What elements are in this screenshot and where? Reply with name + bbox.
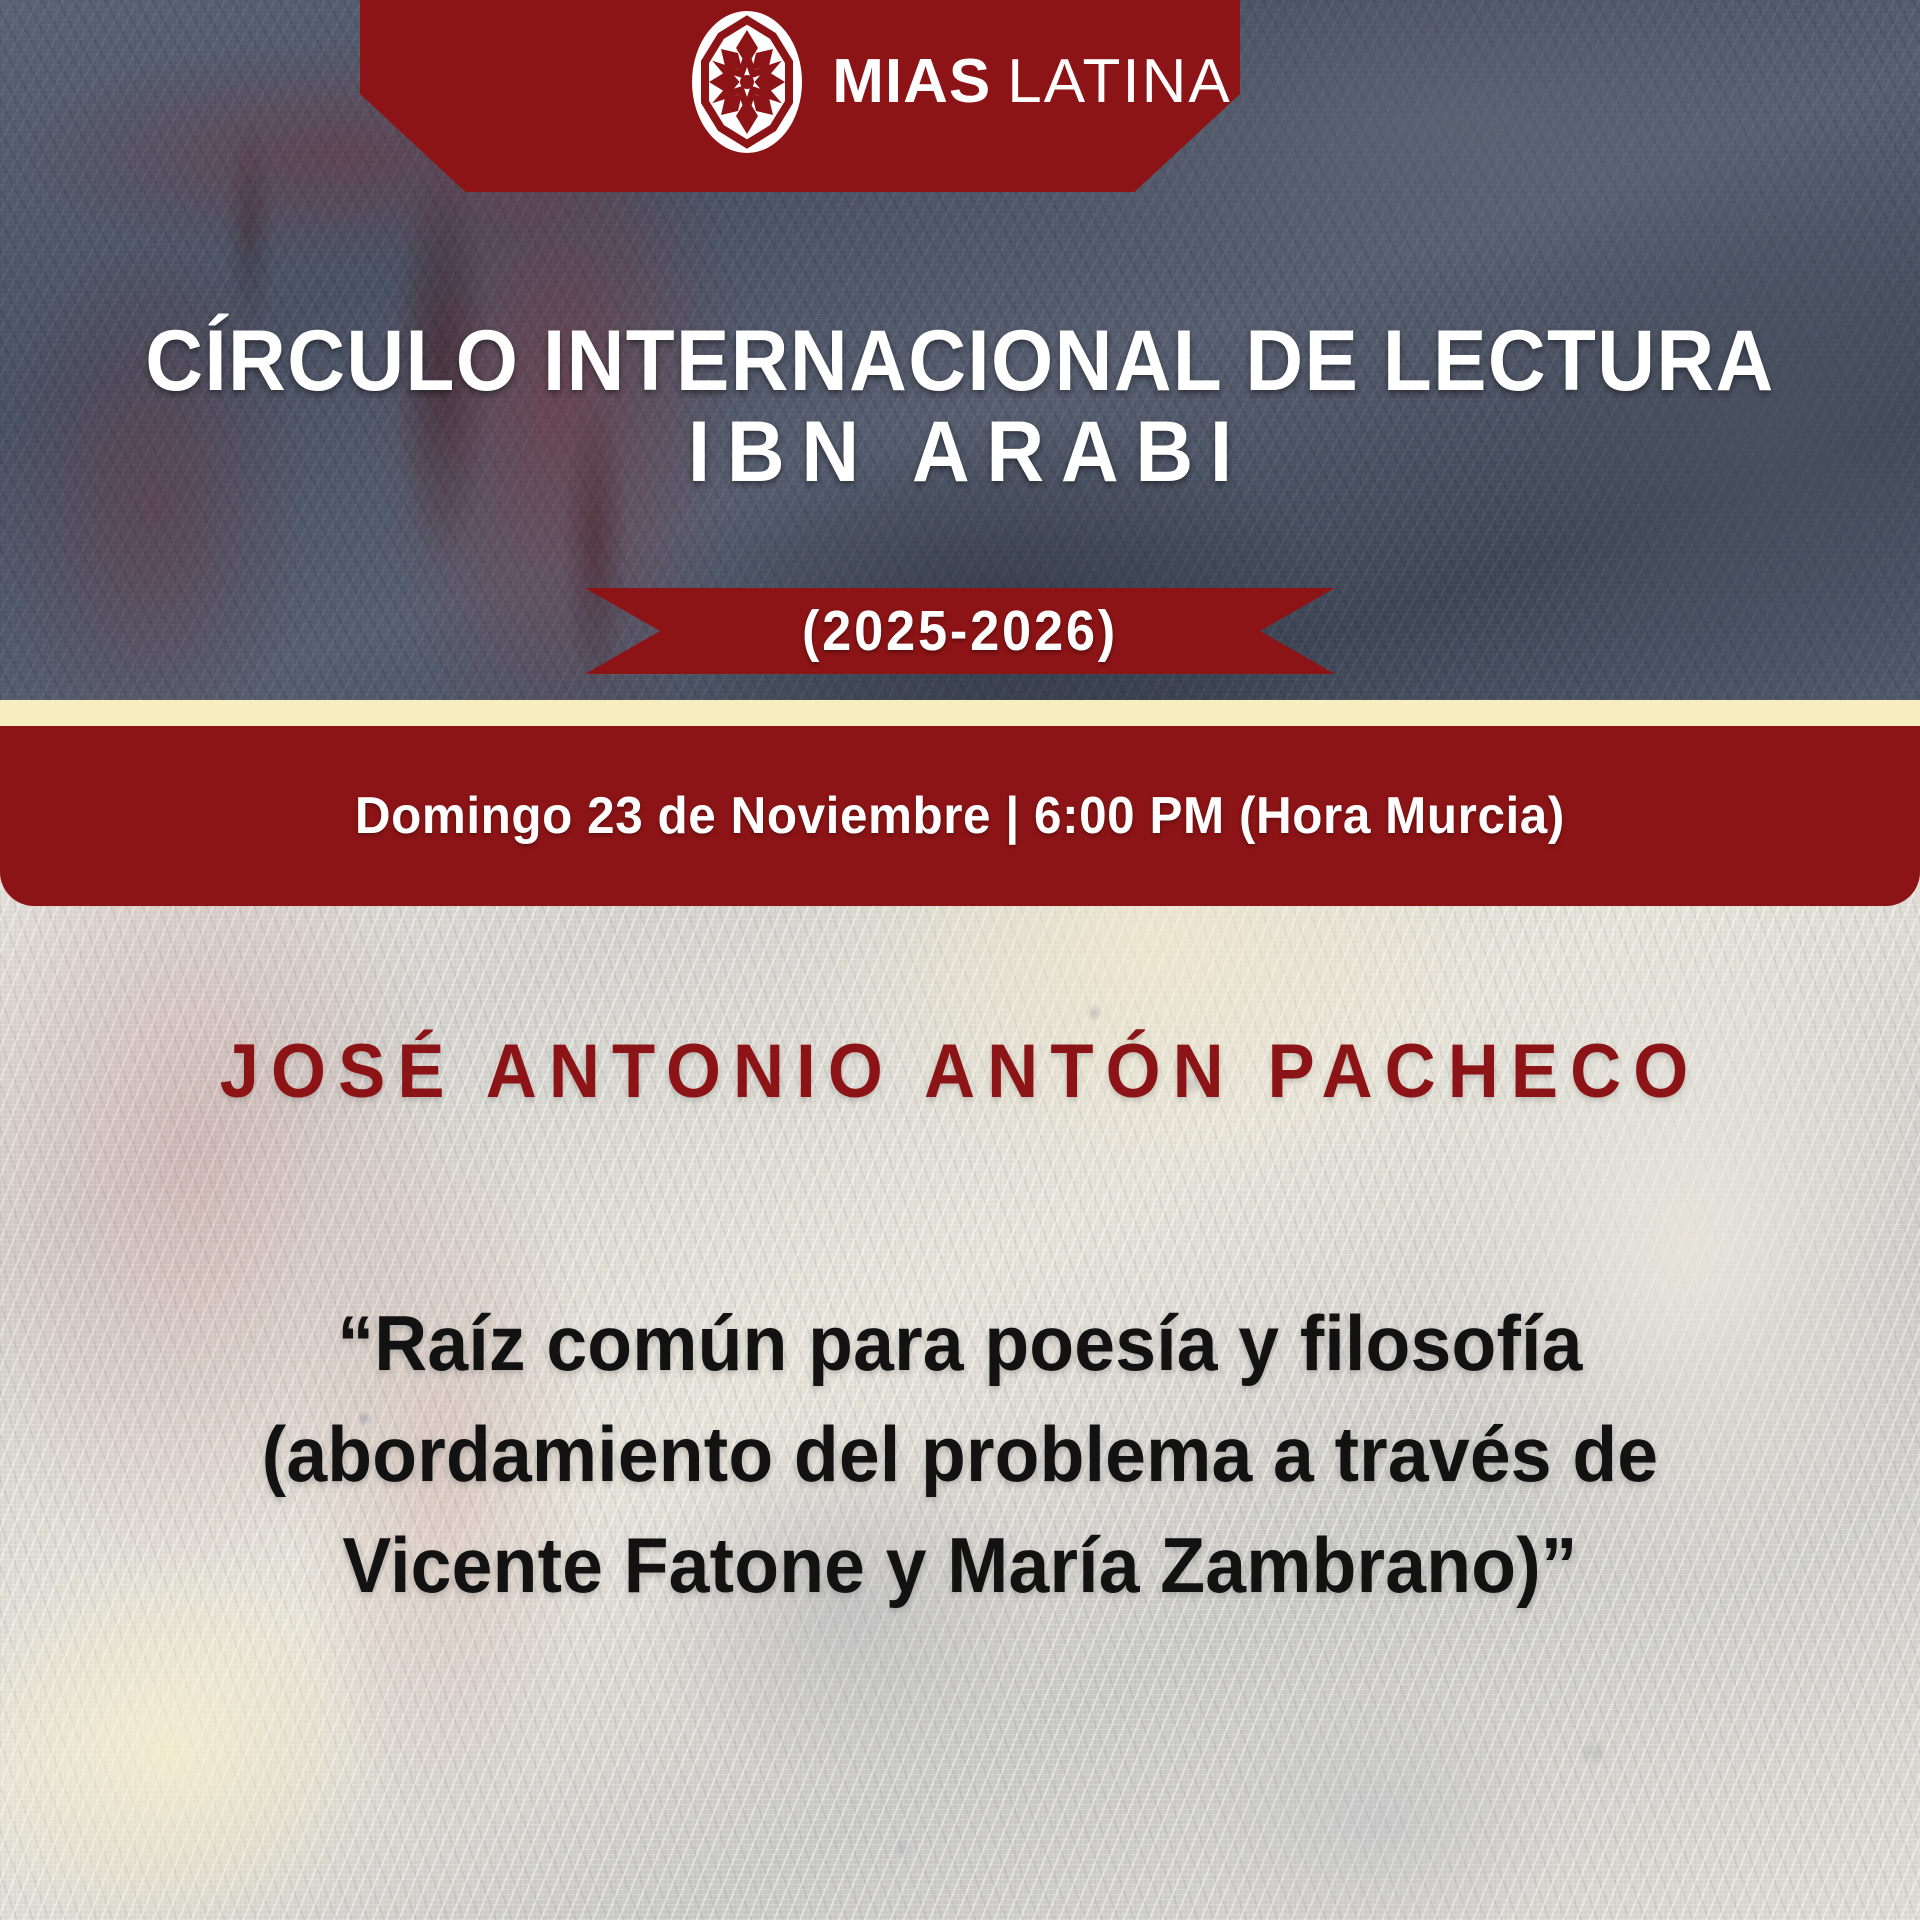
season-label: (2025-2026): [615, 588, 1305, 674]
talk-title-line-2: (abordamiento del problema a través de: [208, 1399, 1712, 1510]
brand-word-secondary: LATINA: [1007, 51, 1231, 113]
page-title-line-1: CÍRCULO INTERNACIONAL DE LECTURA: [67, 318, 1853, 404]
accent-stripe: [0, 700, 1920, 726]
event-poster: MIAS LATINA CÍRCULO INTERNACIONAL DE LEC…: [0, 0, 1920, 1920]
brand-word-primary: MIAS: [832, 51, 991, 113]
brand-lockup: MIAS LATINA: [0, 0, 1920, 168]
schedule-text: Domingo 23 de Noviembre | 6:00 PM (Hora …: [355, 786, 1565, 846]
brand-wordmark: MIAS LATINA: [832, 51, 1231, 113]
season-ribbon: (2025-2026): [585, 588, 1335, 674]
talk-title-line-3: Vicente Fatone y María Zambrano)”: [208, 1510, 1712, 1621]
page-title-line-2: IBN ARABI: [67, 404, 1853, 500]
brand-ribbon: MIAS LATINA: [0, 0, 1920, 192]
eight-point-star-rosette-icon: [688, 6, 806, 158]
talk-title-line-1: “Raíz común para poesía y filosofía: [208, 1288, 1712, 1399]
speaker-name: JOSÉ ANTONIO ANTÓN PACHECO: [67, 1028, 1853, 1115]
page-title: CÍRCULO INTERNACIONAL DE LECTURA IBN ARA…: [0, 318, 1920, 500]
speaker-block: JOSÉ ANTONIO ANTÓN PACHECO: [0, 1028, 1920, 1115]
schedule-banner: Domingo 23 de Noviembre | 6:00 PM (Hora …: [0, 726, 1920, 906]
talk-title: “Raíz común para poesía y filosofía (abo…: [160, 1288, 1760, 1620]
